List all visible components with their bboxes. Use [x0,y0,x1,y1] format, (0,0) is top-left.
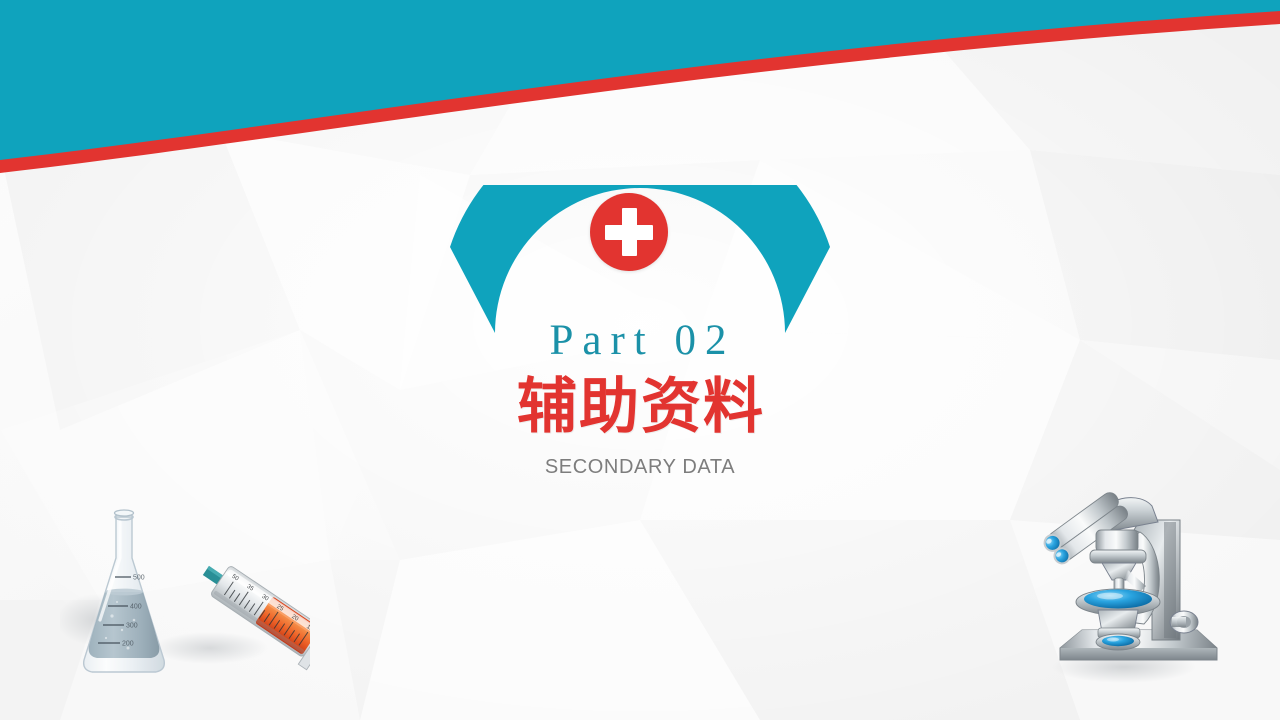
svg-text:200: 200 [122,641,134,648]
top-teal-banner [0,0,1280,175]
red-cross-badge [590,193,668,271]
microscope-focus-knob [1170,611,1198,633]
slide-canvas: Part 02 辅助资料 SECONDARY DATA [0,0,1280,720]
svg-text:400: 400 [130,604,142,611]
svg-text:300: 300 [126,623,138,630]
syringe: 50 35 30 25 20 15 [156,525,310,689]
syringe-needle [170,546,206,570]
microscope [1012,462,1234,692]
section-number-label: Part 02 [0,318,1280,364]
syringe-shadow [152,632,268,664]
microscope-collar [1096,530,1138,552]
svg-text:500: 500 [133,575,145,582]
erlenmeyer-flask: 500 400 300 200 [84,510,165,672]
flask-and-syringe-group: 500 400 300 200 [60,470,310,695]
section-title-chinese: 辅助资料 [0,374,1280,441]
cross-vertical-bar [622,208,637,256]
section-text-block: Part 02 辅助资料 SECONDARY DATA [0,318,1280,479]
